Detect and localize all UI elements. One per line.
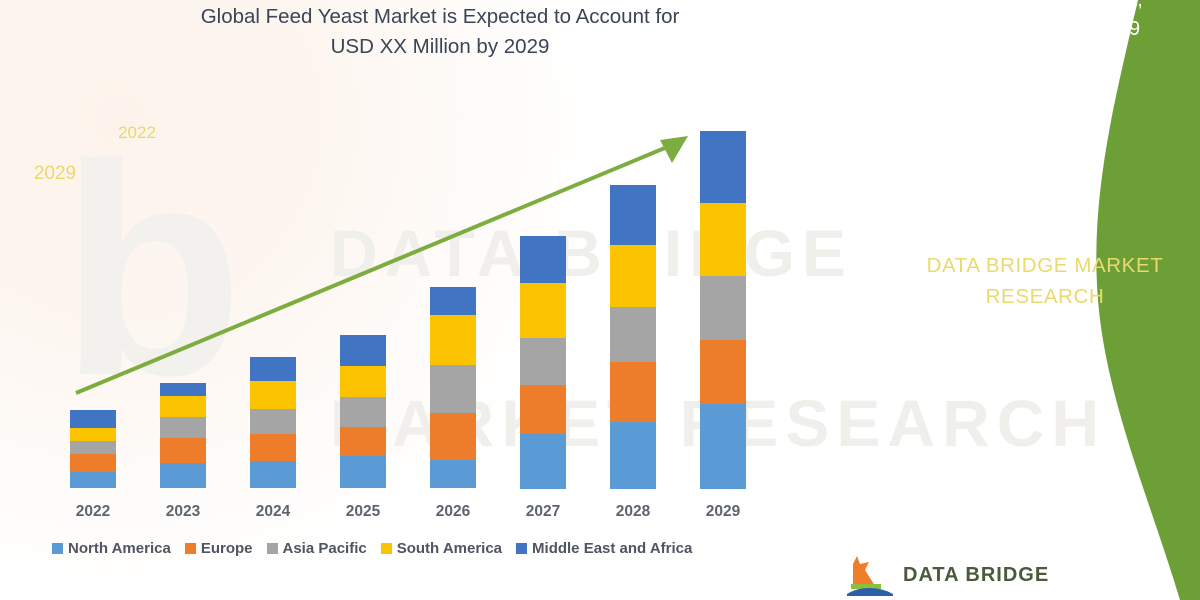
legend-swatch-icon [381,543,392,554]
bar-segment-north-america [610,422,656,489]
bar-segment-middle-east-and-africa [160,383,206,396]
x-axis-label-2029: 2029 [683,503,763,521]
legend-swatch-icon [52,543,63,554]
x-axis-label-2025: 2025 [323,503,403,521]
bar-segment-south-america [610,245,656,307]
bar-segment-asia-pacific [430,365,476,413]
bar-2025 [340,335,386,488]
legend-swatch-icon [185,543,196,554]
brand-line2: RESEARCH [900,281,1190,312]
legend-label: South America [397,540,502,557]
bar-segment-europe [610,362,656,422]
legend-label: Europe [201,540,253,557]
legend-label: Middle East and Africa [532,540,692,557]
bar-segment-europe [70,454,116,472]
legend-label: Asia Pacific [283,540,367,557]
bar-segment-north-america [70,472,116,488]
bar-segment-europe [250,434,296,461]
bar-segment-asia-pacific [160,417,206,438]
bar-segment-middle-east-and-africa [250,357,296,381]
bar-2024 [250,357,296,488]
brand-name: DATA BRIDGE MARKET RESEARCH [900,250,1190,312]
bar-segment-middle-east-and-africa [520,236,566,283]
bar-2029 [700,131,746,489]
bar-2022 [70,410,116,488]
logo-text: DATA BRIDGE [903,564,1049,587]
bar-segment-asia-pacific [70,441,116,454]
panel-title-line2: By Regions, 2022 to 2029 [855,15,1195,44]
legend-swatch-icon [267,543,278,554]
bar-2028 [610,185,656,489]
bar-segment-middle-east-and-africa [70,410,116,428]
legend-label: North America [68,540,171,557]
bar-2023 [160,383,206,488]
legend-item-south-america[interactable]: South America [381,540,502,557]
bar-2027 [520,236,566,489]
x-axis-label-2027: 2027 [503,503,583,521]
bar-segment-europe [700,340,746,404]
x-axis-label-2023: 2023 [143,503,223,521]
bar-segment-south-america [340,366,386,397]
bar-segment-asia-pacific [340,397,386,427]
bar-segment-middle-east-and-africa [430,287,476,315]
bar-segment-asia-pacific [520,338,566,385]
hexagon-2022-icon [1028,100,1086,168]
bar-segment-europe [340,427,386,456]
bar-segment-north-america [520,434,566,489]
panel-title-line1: Global Feed Yeast Market, [855,0,1195,15]
bar-segment-europe [430,413,476,460]
x-axis-labels: 20222023202420252026202720282029 [0,503,800,525]
bridge-logo-icon [845,556,897,596]
bar-segment-middle-east-and-africa [700,131,746,203]
hex-label-2029: 2029 [16,163,94,185]
legend-swatch-icon [516,543,527,554]
brand-line1: DATA BRIDGE MARKET [900,250,1190,281]
bar-segment-north-america [340,456,386,488]
legend-item-europe[interactable]: Europe [185,540,253,557]
bar-segment-north-america [250,461,296,488]
x-axis-label-2028: 2028 [593,503,673,521]
bar-segment-south-america [160,396,206,417]
bar-segment-asia-pacific [700,276,746,340]
bar-segment-south-america [700,203,746,276]
x-axis-label-2022: 2022 [53,503,133,521]
bar-2026 [430,287,476,488]
bar-segment-south-america [250,381,296,409]
chart-legend: North AmericaEuropeAsia PacificSouth Ame… [52,540,692,557]
bar-segment-north-america [430,460,476,488]
bar-segment-europe [520,385,566,434]
hex-label-2022: 2022 [103,123,171,143]
bar-segment-middle-east-and-africa [610,185,656,245]
legend-item-north-america[interactable]: North America [52,540,171,557]
bar-segment-asia-pacific [610,307,656,362]
bar-segment-south-america [520,283,566,338]
bar-segment-middle-east-and-africa [340,335,386,366]
bar-segment-asia-pacific [250,409,296,434]
hexagon-badges [920,98,1120,218]
bar-segment-south-america [70,428,116,441]
hexagon-2029-icon [944,140,1020,228]
bar-segment-north-america [160,463,206,488]
legend-item-middle-east-and-africa[interactable]: Middle East and Africa [516,540,692,557]
bar-segment-south-america [430,315,476,365]
bar-segment-europe [160,438,206,463]
data-bridge-logo: DATA BRIDGE [845,556,1185,600]
x-axis-label-2024: 2024 [233,503,313,521]
x-axis-label-2026: 2026 [413,503,493,521]
bar-segment-north-america [700,404,746,489]
legend-item-asia-pacific[interactable]: Asia Pacific [267,540,367,557]
infographic-canvas: b DATA BRIDGE MARKET RESEARCH Global Fee… [0,0,1200,600]
panel-title: Global Feed Yeast Market, By Regions, 20… [855,0,1195,44]
